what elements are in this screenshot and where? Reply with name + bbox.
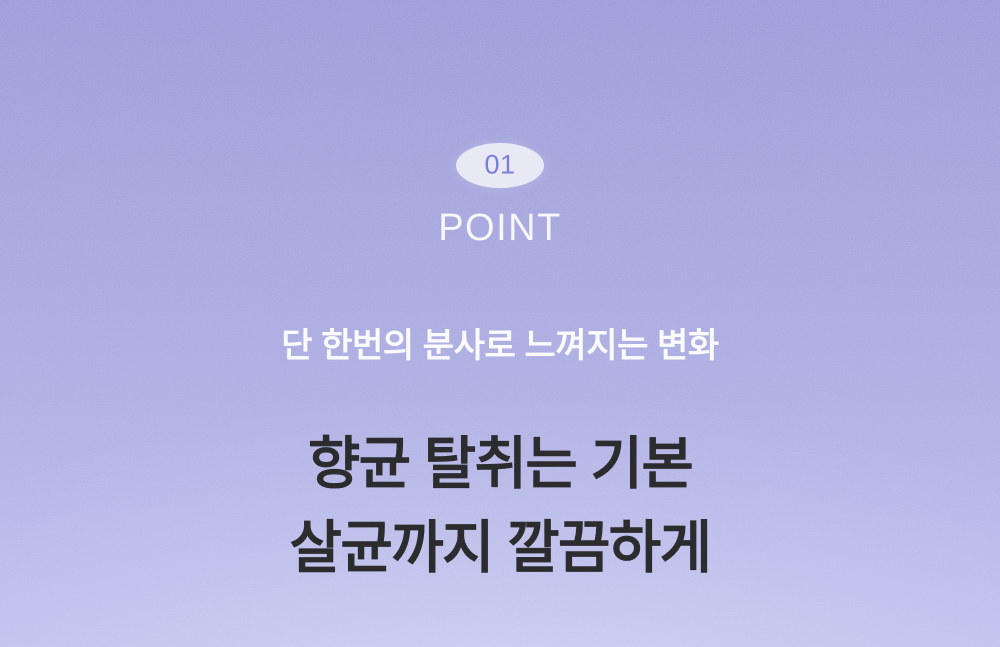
point-number-badge: 01 xyxy=(456,143,544,188)
promo-banner: 01 POINT 단 한번의 분사로 느껴지는 변화 향균 탈취는 기본 살균까… xyxy=(0,0,1000,647)
banner-headline: 향균 탈취는 기본 살균까지 깔끔하게 xyxy=(0,422,1000,590)
headline-line-2: 살균까지 깔끔하게 xyxy=(0,506,1000,590)
headline-line-1: 향균 탈취는 기본 xyxy=(0,422,1000,506)
badge-container: 01 xyxy=(0,143,1000,188)
banner-content: 01 POINT 단 한번의 분사로 느껴지는 변화 향균 탈취는 기본 살균까… xyxy=(0,0,1000,647)
point-label: POINT xyxy=(0,206,1000,250)
badge-number-text: 01 xyxy=(484,152,515,179)
banner-subtitle: 단 한번의 분사로 느껴지는 변화 xyxy=(0,322,1000,370)
